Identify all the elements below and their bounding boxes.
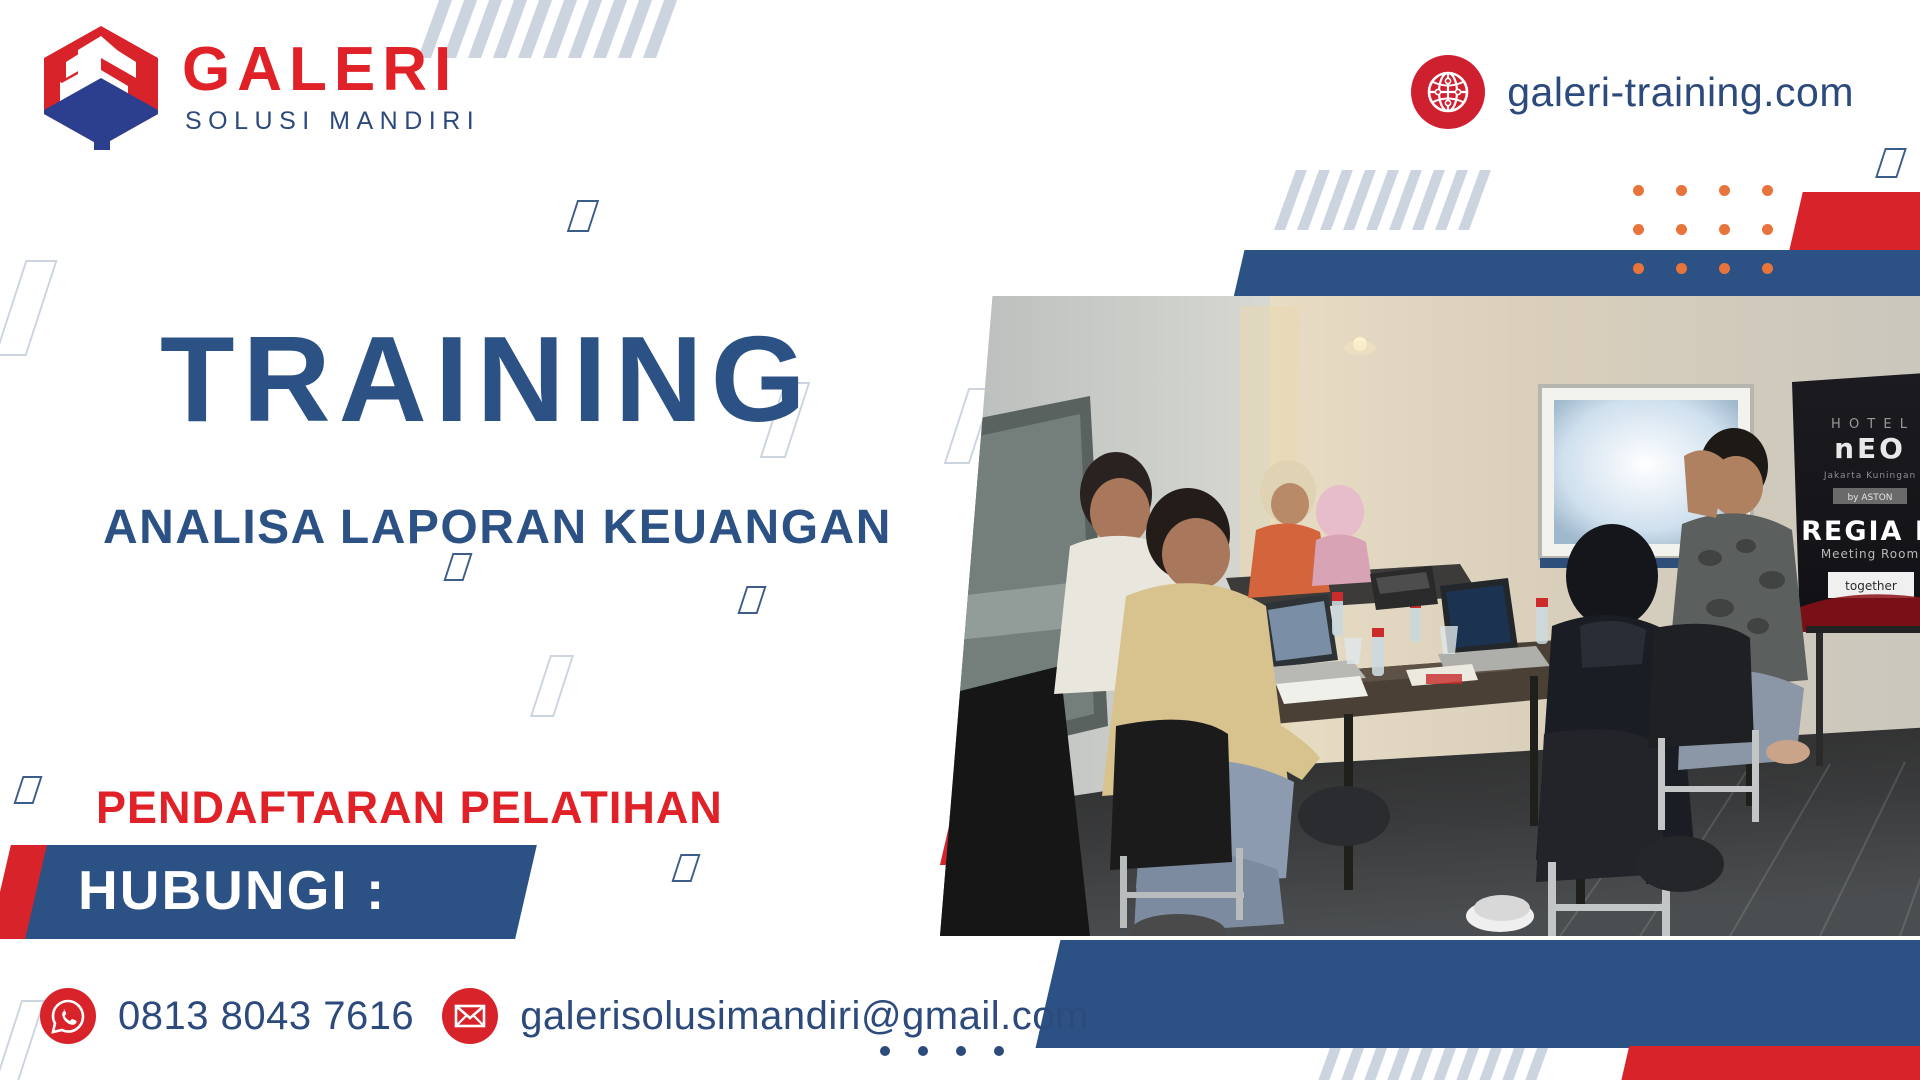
decor-band-blue-bottom <box>1036 940 1920 1048</box>
brand-name: GALERI <box>182 39 480 101</box>
whatsapp-number: 0813 8043 7616 <box>118 994 414 1039</box>
contact-banner-label: HUBUNGI : <box>78 858 386 922</box>
page-title: TRAINING <box>160 318 814 440</box>
promo-poster: H O T E L nEO Jakarta Kuningan by ASTON … <box>0 0 1920 1080</box>
page-subtitle: ANALISA LAPORAN KEUANGAN <box>103 500 892 555</box>
decor-parallelogram-1 <box>0 260 58 356</box>
whatsapp-icon <box>40 988 96 1044</box>
decor-parallelogram-2 <box>567 200 599 232</box>
decor-dots-under-email <box>880 1046 1004 1056</box>
contact-email[interactable]: galerisolusimandiri@gmail.com <box>442 988 1089 1044</box>
contact-row: 0813 8043 7616 galerisolusimandiri@gmail… <box>40 988 1089 1044</box>
svg-text:H O T E L: H O T E L <box>1831 417 1909 432</box>
envelope-icon <box>442 988 498 1044</box>
decor-dot-grid <box>1633 185 1773 313</box>
brand-logo: GALERI SOLUSI MANDIRI <box>38 22 480 150</box>
decor-parallelogram-7 <box>671 854 700 882</box>
svg-text:nEO: nEO <box>1834 432 1906 465</box>
globe-icon <box>1411 55 1485 129</box>
decor-parallelogram-3 <box>443 553 472 581</box>
svg-text:REGIA II: REGIA II <box>1801 516 1920 547</box>
website-url: galeri-training.com <box>1507 69 1854 116</box>
decor-parallelogram-6 <box>13 776 42 804</box>
contact-whatsapp[interactable]: 0813 8043 7616 <box>40 988 414 1044</box>
decor-band-red-bottom <box>1611 1046 1920 1080</box>
brand-tagline: SOLUSI MANDIRI <box>185 109 480 134</box>
decor-parallelogram-8 <box>1875 148 1907 178</box>
svg-text:by ASTON: by ASTON <box>1847 493 1892 503</box>
registration-label: PENDAFTARAN PELATIHAN <box>96 782 723 834</box>
email-address: galerisolusimandiri@gmail.com <box>520 994 1089 1039</box>
website-link[interactable]: galeri-training.com <box>1411 55 1854 129</box>
galeri-hexagon-logo-icon <box>38 22 164 150</box>
decor-parallelogram-11 <box>0 1000 45 1080</box>
decor-parallelogram-5 <box>530 655 574 717</box>
svg-text:Jakarta Kuningan: Jakarta Kuningan <box>1823 471 1916 481</box>
svg-text:together: together <box>1845 579 1897 593</box>
training-photo: H O T E L nEO Jakarta Kuningan by ASTON … <box>940 296 1920 936</box>
svg-text:Meeting Room: Meeting Room <box>1821 547 1919 561</box>
decor-stripes-photo-top <box>1285 170 1480 230</box>
decor-parallelogram-4 <box>737 586 766 614</box>
